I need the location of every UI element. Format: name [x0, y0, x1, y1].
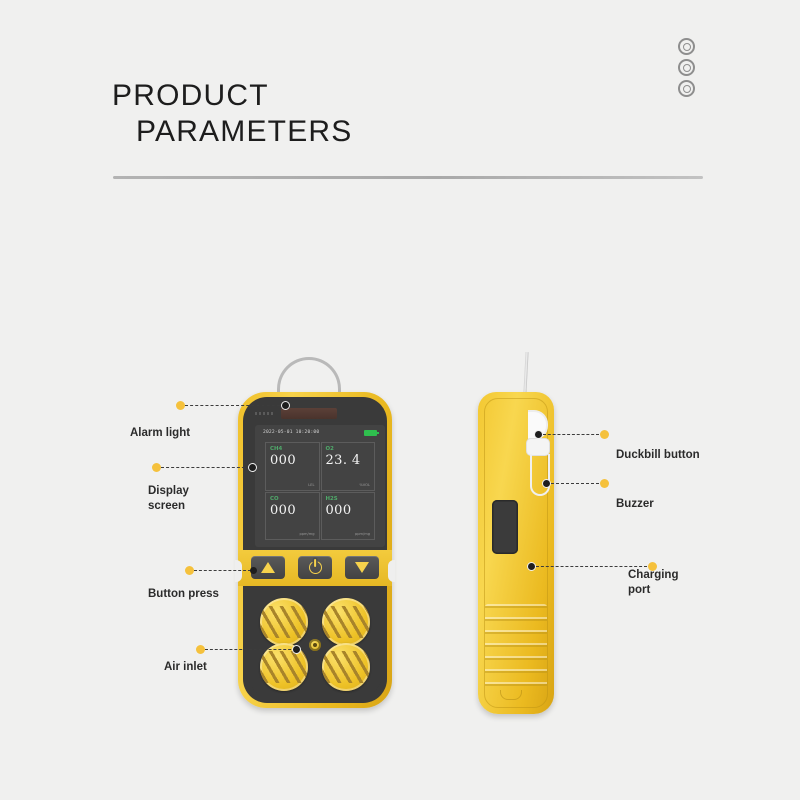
power-icon [309, 561, 322, 574]
gas-label: O2 [326, 446, 371, 452]
gas-cell-h2s: H2S 000 ppm/mg [321, 492, 376, 541]
callout-dot-display-screen [152, 463, 161, 472]
leader-endpoint-display-screen [248, 463, 257, 472]
screen-timestamp: 2022-05-01 10:20:00 [263, 430, 319, 435]
alarm-light-strip [281, 408, 337, 419]
callout-dot-duckbill-button [600, 430, 609, 439]
leader-endpoint-charging-port [527, 562, 536, 571]
up-button[interactable] [251, 556, 285, 579]
battery-full-icon [364, 430, 377, 436]
screen-status-bar: 2022-05-01 10:20:00 [263, 430, 377, 436]
leader-line-air-inlet [205, 649, 296, 650]
concentric-ring-icon [678, 80, 695, 97]
callout-dot-button-press [185, 566, 194, 575]
callout-label-alarm-light: Alarm light [130, 426, 190, 441]
device-shell: 2022-05-01 10:20:00 CH4 000 LEL O2 23. 4 [238, 392, 392, 708]
product-parameters-page: PRODUCT PARAMETERS 2022-05-01 10:20:00 [0, 0, 800, 800]
callout-label-air-inlet: Air inlet [164, 660, 207, 675]
gas-readings-grid: CH4 000 LEL O2 23. 4 %VOL CO 000 ppm [265, 442, 375, 540]
device-side-view [478, 392, 554, 714]
callout-label-charging-port: Charging port [628, 568, 678, 598]
header-divider [113, 176, 703, 179]
concentric-ring-icon [678, 38, 695, 55]
charging-port [492, 500, 518, 554]
title-line-2: PARAMETERS [136, 114, 352, 150]
callout-dot-buzzer [600, 479, 609, 488]
leader-line-display-screen [161, 467, 250, 468]
device-front-view: 2022-05-01 10:20:00 CH4 000 LEL O2 23. 4 [238, 392, 392, 708]
leader-endpoint-button-press [250, 567, 257, 574]
callout-label-button-press: Button press [148, 587, 219, 602]
button-row [251, 553, 379, 581]
center-screw [309, 639, 321, 651]
display-screen: 2022-05-01 10:20:00 CH4 000 LEL O2 23. 4 [255, 425, 385, 547]
page-title: PRODUCT PARAMETERS [112, 78, 352, 150]
air-inlet-panel [248, 591, 382, 698]
right-grip-notch [388, 560, 395, 582]
triangle-down-icon [355, 562, 369, 573]
triangle-up-icon [261, 562, 275, 573]
callout-label-duckbill-button: Duckbill button [616, 448, 700, 463]
gas-label: H2S [326, 496, 371, 502]
gas-cell-ch4: CH4 000 LEL [265, 442, 320, 491]
gas-label: CO [270, 496, 315, 502]
speaker-holes-icon [255, 412, 273, 415]
callout-dot-air-inlet [196, 645, 205, 654]
gas-value: 23. 4 [326, 453, 371, 469]
leader-endpoint-duckbill-button [534, 430, 543, 439]
gas-value: 000 [270, 453, 315, 469]
leader-line-alarm-light [185, 405, 285, 406]
concentric-ring-icon [678, 59, 695, 76]
left-grip-notch [235, 560, 242, 582]
gas-unit: %VOL [359, 483, 370, 487]
callout-dot-charging-port [648, 562, 657, 571]
gas-label: CH4 [270, 446, 315, 452]
power-button[interactable] [298, 556, 332, 579]
gas-cell-co: CO 000 ppm/mg [265, 492, 320, 541]
gas-cell-o2: O2 23. 4 %VOL [321, 442, 376, 491]
leader-line-duckbill-button [543, 434, 599, 435]
air-inlet-grille [322, 643, 370, 691]
gas-value: 000 [326, 503, 371, 519]
gas-value: 000 [270, 503, 315, 519]
leader-line-buzzer [551, 483, 599, 484]
gas-unit: ppm/mg [355, 532, 370, 536]
air-inlet-grille [322, 598, 370, 646]
title-line-1: PRODUCT [112, 78, 352, 114]
callout-dot-alarm-light [176, 401, 185, 410]
corner-ring-decoration [678, 38, 695, 97]
gas-unit: LEL [308, 483, 314, 487]
callout-label-display-screen: Display screen [148, 484, 189, 514]
gas-unit: ppm/mg [299, 532, 314, 536]
leader-line-button-press [194, 570, 251, 571]
leader-line-charging-port [536, 566, 647, 567]
leader-endpoint-buzzer [542, 479, 551, 488]
clip-lever [530, 454, 550, 496]
leader-endpoint-air-inlet [292, 645, 301, 654]
leader-endpoint-alarm-light [281, 401, 290, 410]
down-button[interactable] [345, 556, 379, 579]
callout-label-buzzer: Buzzer [616, 497, 654, 512]
air-inlet-grille [260, 598, 308, 646]
grip-ribs [485, 604, 547, 688]
